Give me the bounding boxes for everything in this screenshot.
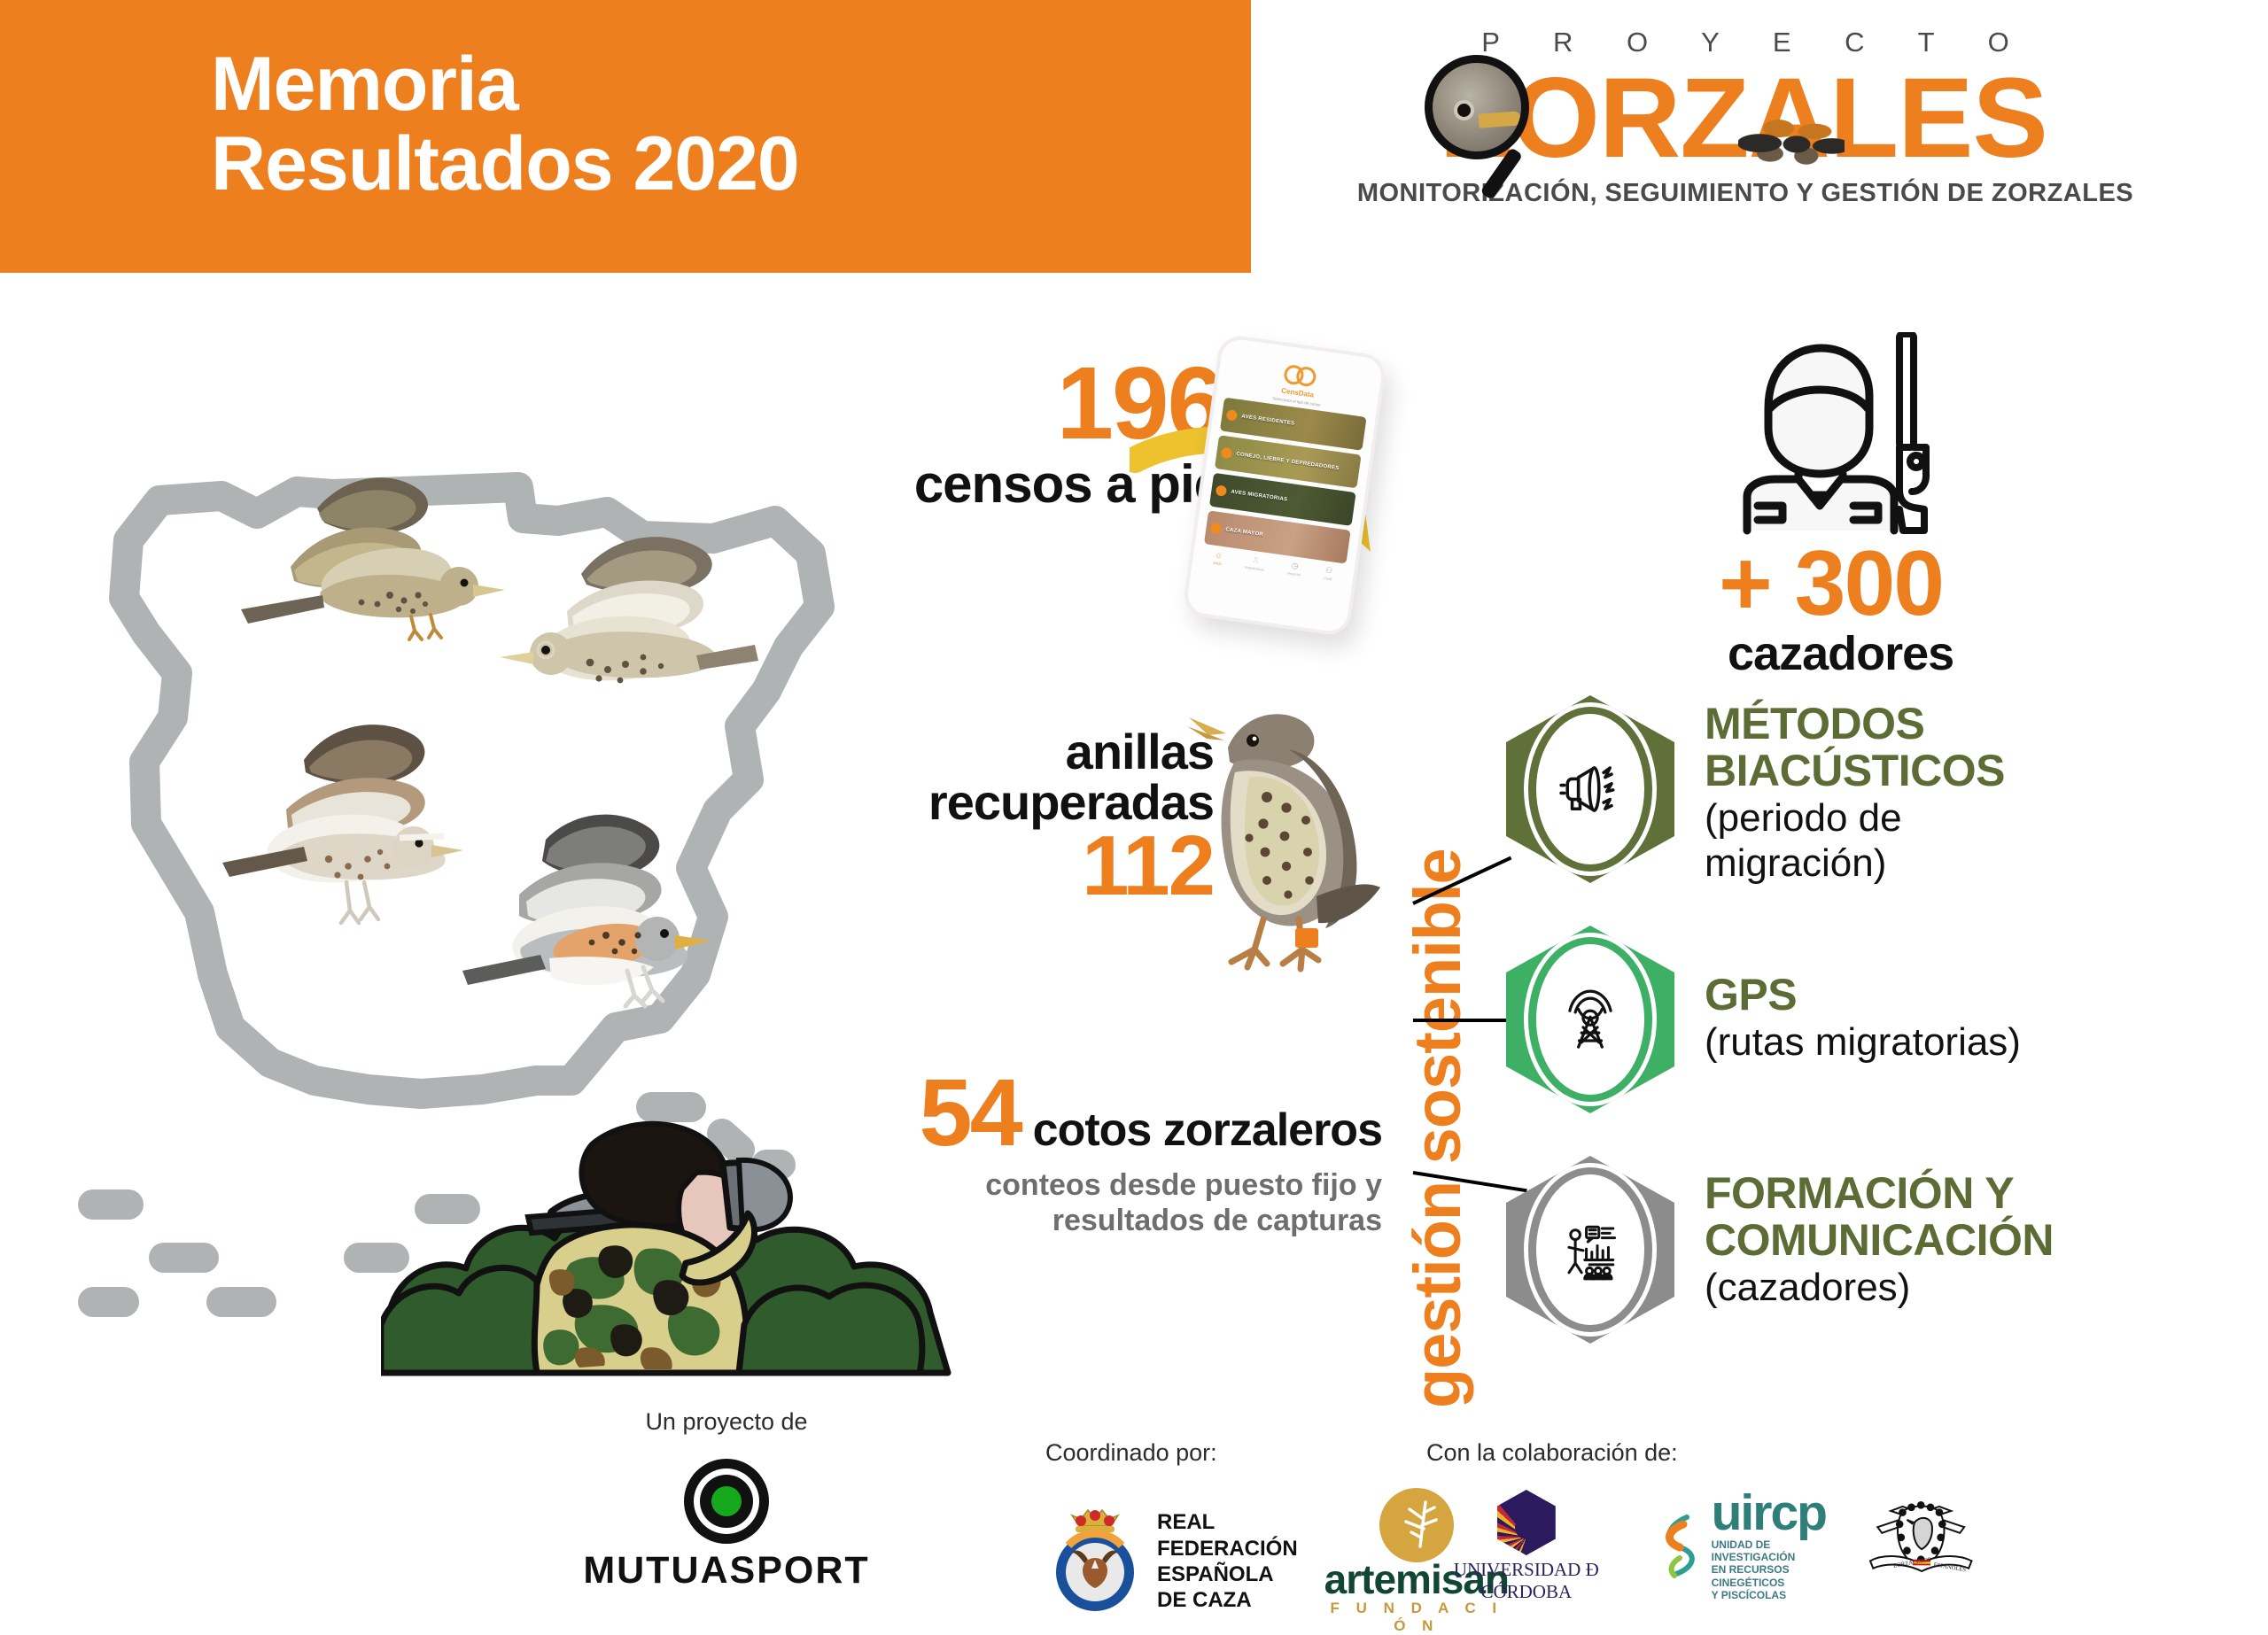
uircp-subtitle: UNIDAD DE INVESTIGACIÓN EN RECURSOS CINE… xyxy=(1712,1538,1830,1602)
thrush-bird-illustration xyxy=(213,434,487,682)
rfec-name: REAL FEDERACIÓN ESPAÑOLA DE CAZA xyxy=(1157,1509,1298,1613)
perched-thrush-illustration xyxy=(1143,691,1409,974)
clock-icon: ◷ xyxy=(1288,562,1302,571)
card-label: AVES RESIDENTES xyxy=(1241,414,1295,427)
artemisan-subtitle: F U N D A C I Ó N xyxy=(1324,1600,1509,1635)
hexagon-badge xyxy=(1506,1156,1674,1344)
hunter-with-binoculars-illustration xyxy=(381,1107,966,1382)
binocular-icon xyxy=(1283,364,1317,386)
hex-title-line2: COMUNICACIÓN xyxy=(1705,1217,2054,1264)
chart-icon: ⎍ xyxy=(1246,555,1266,566)
logo-kicker: P R O Y E C T O xyxy=(1320,27,2171,58)
nav-label: Inicio xyxy=(1213,561,1222,566)
card-label: CONEJO, LIEBRE Y DEPREDADORES xyxy=(1236,452,1340,472)
hex-title-line1: MÉTODOS xyxy=(1705,701,2005,748)
project-logo: P R O Y E C T O ZORZALES MONITORIZACIÓN,… xyxy=(1320,27,2171,208)
page-title: Memoria Resultados 2020 xyxy=(211,44,799,205)
profile-icon: ⚇ xyxy=(1324,566,1333,575)
gestion-sostenible-label: gestión sostenible xyxy=(1400,593,1488,1408)
hex-title-line1: GPS xyxy=(1705,972,2021,1019)
home-icon: ⌂ xyxy=(1214,551,1223,560)
antenna-icon xyxy=(1536,944,1644,1095)
page-title-line2: Resultados 2020 xyxy=(211,124,799,204)
presentation-icon xyxy=(1536,1174,1644,1325)
uco-name: UNIVERSIDAD Ð CÓRDOBA xyxy=(1426,1559,1627,1603)
footer-caption-colaboracion: Con la colaboración de: xyxy=(1426,1439,1976,1467)
hex-sub-line2: migración) xyxy=(1705,841,2005,885)
rfec-line3: ESPAÑOLA xyxy=(1157,1561,1298,1587)
uircp-swirl-icon xyxy=(1657,1512,1706,1581)
uco-shield-icon xyxy=(1497,1490,1556,1555)
footer-caption-coordinado: Coordinado por: xyxy=(1045,1439,1417,1467)
uircp-wordmark: uircp xyxy=(1712,1491,1830,1536)
rfec-line4: DE CAZA xyxy=(1157,1587,1298,1613)
card-label: AVES MIGRATORIAS xyxy=(1231,489,1288,503)
target-icon xyxy=(684,1459,769,1544)
card-bullet-icon xyxy=(1226,409,1239,422)
footer-caption-proyecto: Un proyecto de xyxy=(540,1408,913,1436)
universidad-cordoba-logo: UNIVERSIDAD Ð CÓRDOBA xyxy=(1426,1490,1627,1603)
card-bullet-icon xyxy=(1221,447,1233,460)
megaphone-icon xyxy=(1536,714,1644,864)
rfec-line1: REAL xyxy=(1157,1509,1298,1535)
rfec-line2: FEDERACIÓN xyxy=(1157,1536,1298,1561)
nav-label: Perfil xyxy=(1324,576,1332,581)
nav-item-historial[interactable]: ◷ Historial xyxy=(1287,562,1302,577)
thrush-bird-illustration xyxy=(416,797,726,1063)
mutuasport-wordmark: MUTUASPORT xyxy=(540,1549,913,1592)
anillas-label-line1: anillas xyxy=(735,726,1214,777)
mutuasport-logo xyxy=(540,1459,913,1544)
nav-item-inicio[interactable]: ⌂ Inicio xyxy=(1213,551,1223,566)
rfec-crest-icon xyxy=(1045,1507,1145,1617)
hunter-with-rifle-icon xyxy=(1735,332,1965,536)
connector-line-2 xyxy=(1413,1019,1511,1022)
nav-label: Historial xyxy=(1287,570,1301,577)
card-bullet-icon xyxy=(1210,523,1223,535)
footer-collaborators: Con la colaboración de: UNIVERSIDAD Ð CÓ… xyxy=(1426,1439,1976,1603)
gestion-item-formacion-comunicacion[interactable]: FORMACIÓN Y COMUNICACIÓN (cazadores) xyxy=(1506,1156,2054,1344)
cotos-label: cotos zorzaleros xyxy=(1033,1104,1382,1157)
stat-anillas: anillas recuperadas 112 xyxy=(735,726,1214,909)
card-label: CAZA MAYOR xyxy=(1225,527,1263,539)
gestion-item-gps[interactable]: GPS (rutas migratorias) xyxy=(1506,926,2021,1113)
magnifier-bird-icon xyxy=(1425,55,1529,159)
stat-cazadores: + 300 cazadores xyxy=(1719,332,2179,681)
gestion-sostenible-text: gestión sostenible xyxy=(1401,848,1474,1408)
hex-title-line2: BIACÚSTICOS xyxy=(1705,748,2005,794)
hexagon-badge xyxy=(1506,695,1674,883)
cazadores-number: + 300 xyxy=(1719,539,2179,630)
logo-tagline: MONITORIZACIÓN, SEGUIMIENTO Y GESTIÓN DE… xyxy=(1320,179,2171,208)
anillas-number: 112 xyxy=(735,824,1214,909)
page-title-line1: Memoria xyxy=(211,42,518,127)
gestion-item-metodos-biacusticos[interactable]: MÉTODOS BIACÚSTICOS (periodo de migració… xyxy=(1506,695,2005,886)
cazadores-label: cazadores xyxy=(1728,626,2179,681)
thrush-bird-illustration xyxy=(470,505,762,735)
feather-icon xyxy=(1738,108,1845,167)
footer-project-sponsor: Un proyecto de MUTUASPORT xyxy=(540,1408,913,1592)
hex-sub-line1: (periodo de xyxy=(1705,796,2005,840)
card-bullet-icon xyxy=(1216,484,1228,497)
uircp-sub-line3: Y PISCÍCOLAS xyxy=(1712,1589,1830,1601)
nav-label: Estadísticas xyxy=(1245,565,1264,572)
hex-sub-line1: (rutas migratorias) xyxy=(1705,1020,2021,1064)
nav-item-perfil[interactable]: ⚇ Perfil xyxy=(1324,566,1333,581)
footer-coordinators: Coordinado por: REAL FEDERACIÓN ESPAÑOLA… xyxy=(1045,1439,1417,1635)
zorzaleros-espanoles-crest: ZORZALEROS ESPAÑOLES xyxy=(1866,1498,1976,1595)
uircp-sub-line2: EN RECURSOS CINEGÉTICOS xyxy=(1712,1563,1830,1589)
nav-item-estadisticas[interactable]: ⎍ Estadísticas xyxy=(1245,555,1266,572)
hexagon-badge xyxy=(1506,926,1674,1113)
hex-title-line1: FORMACIÓN Y xyxy=(1705,1170,2054,1217)
uircp-logo: uircp UNIDAD DE INVESTIGACIÓN EN RECURSO… xyxy=(1657,1491,1830,1601)
hex-sub-line1: (cazadores) xyxy=(1705,1266,2054,1309)
uircp-sub-line1: UNIDAD DE INVESTIGACIÓN xyxy=(1712,1538,1830,1564)
